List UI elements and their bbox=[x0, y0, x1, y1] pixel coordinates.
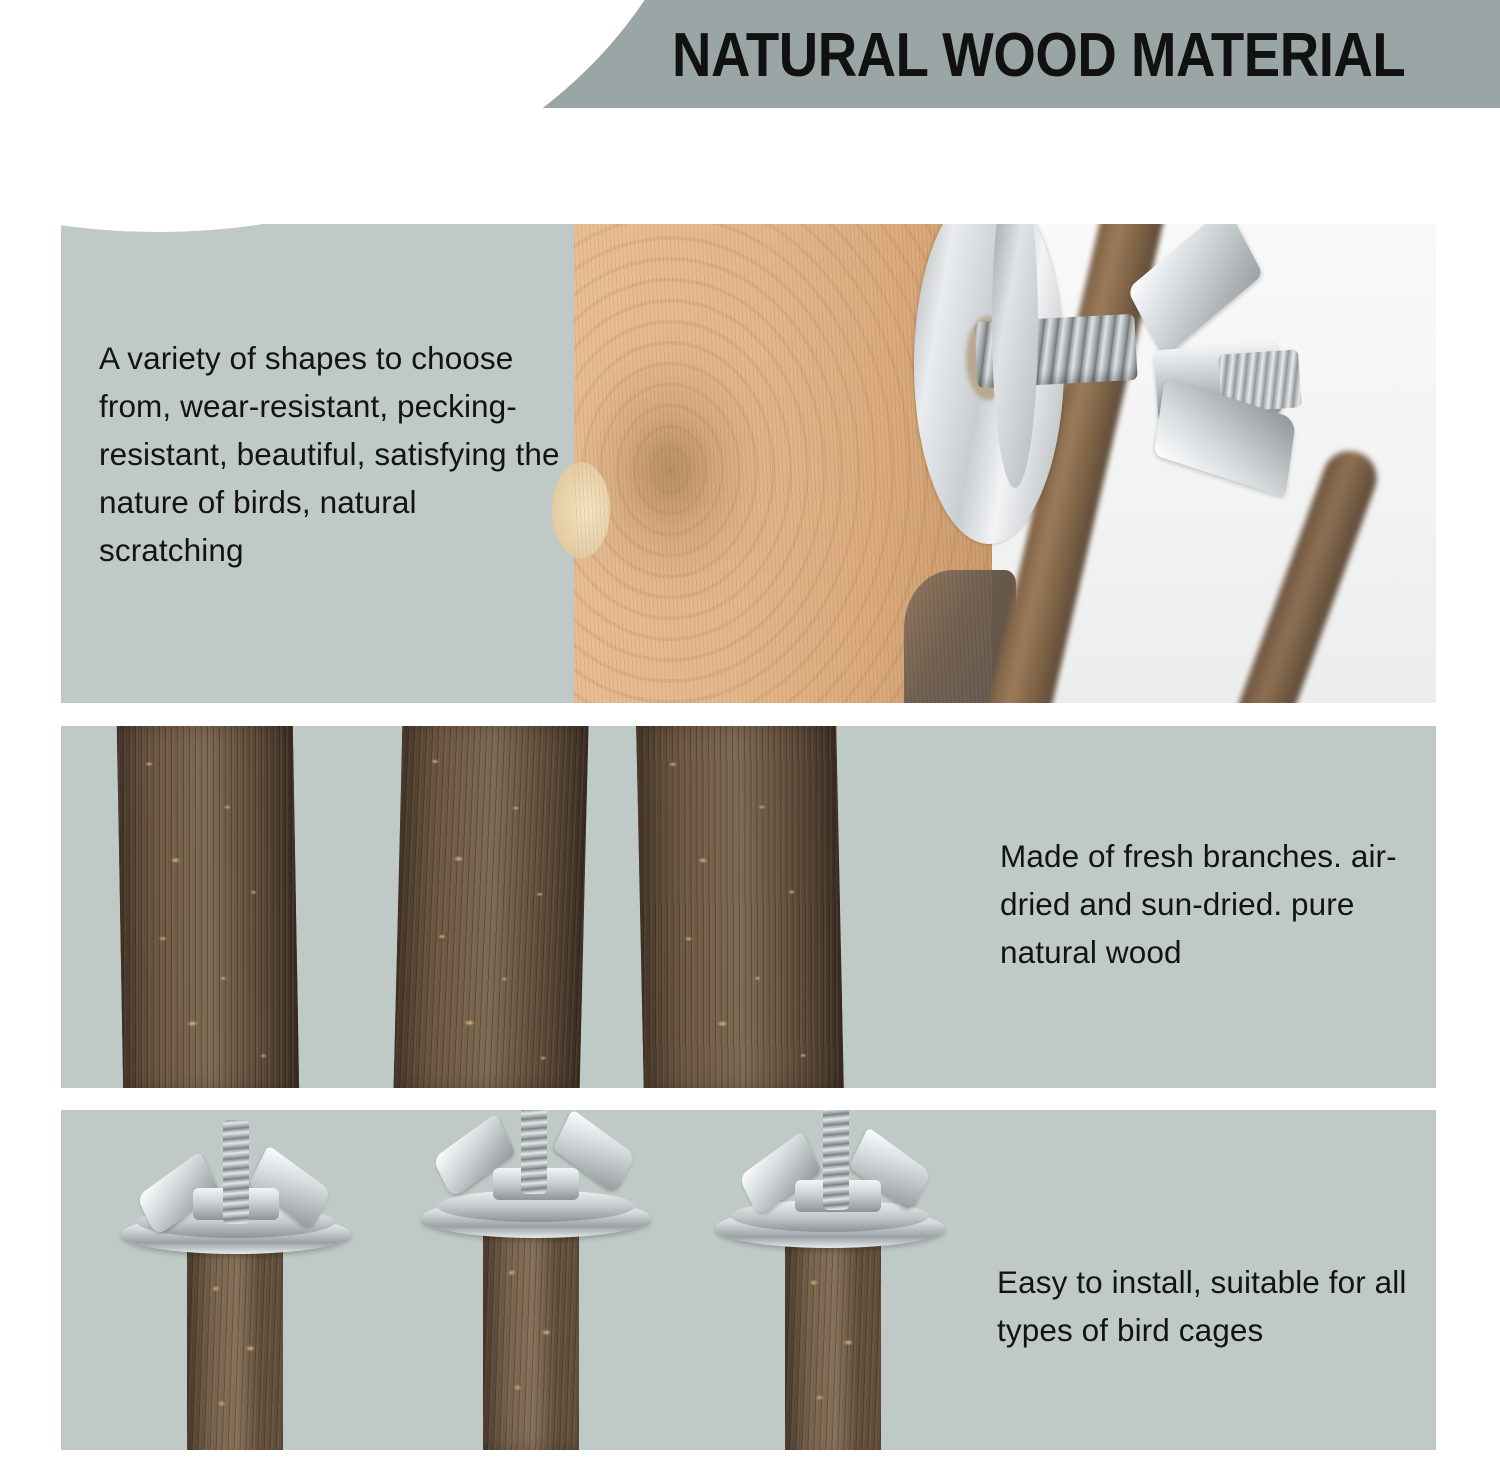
header-band-title: NATURAL WOOD MATERIAL bbox=[672, 16, 1387, 96]
perch-wood-1 bbox=[187, 1238, 283, 1450]
section-text-variety: A variety of shapes to choose from, wear… bbox=[99, 334, 569, 574]
header-white-arc bbox=[0, 0, 708, 232]
photo-three-branches bbox=[120, 726, 960, 1088]
photo-three-perches bbox=[81, 1110, 981, 1450]
perch-bolt-1 bbox=[223, 1120, 249, 1224]
perch-wood-3 bbox=[785, 1232, 881, 1450]
wing-nut bbox=[1094, 250, 1354, 510]
section-text-fresh-branches: Made of fresh branches. air-dried and su… bbox=[1000, 832, 1420, 976]
branch-2 bbox=[393, 726, 588, 1088]
photo-cut-wood-with-wing-nut bbox=[574, 224, 1436, 703]
perch-bolt-3 bbox=[823, 1110, 849, 1210]
branch-1 bbox=[117, 726, 299, 1088]
perch-bolt-2 bbox=[521, 1110, 547, 1194]
section-text-easy-install: Easy to install, suitable for all types … bbox=[997, 1258, 1437, 1354]
perch-wood-2 bbox=[483, 1222, 579, 1450]
branch-3 bbox=[636, 726, 844, 1088]
